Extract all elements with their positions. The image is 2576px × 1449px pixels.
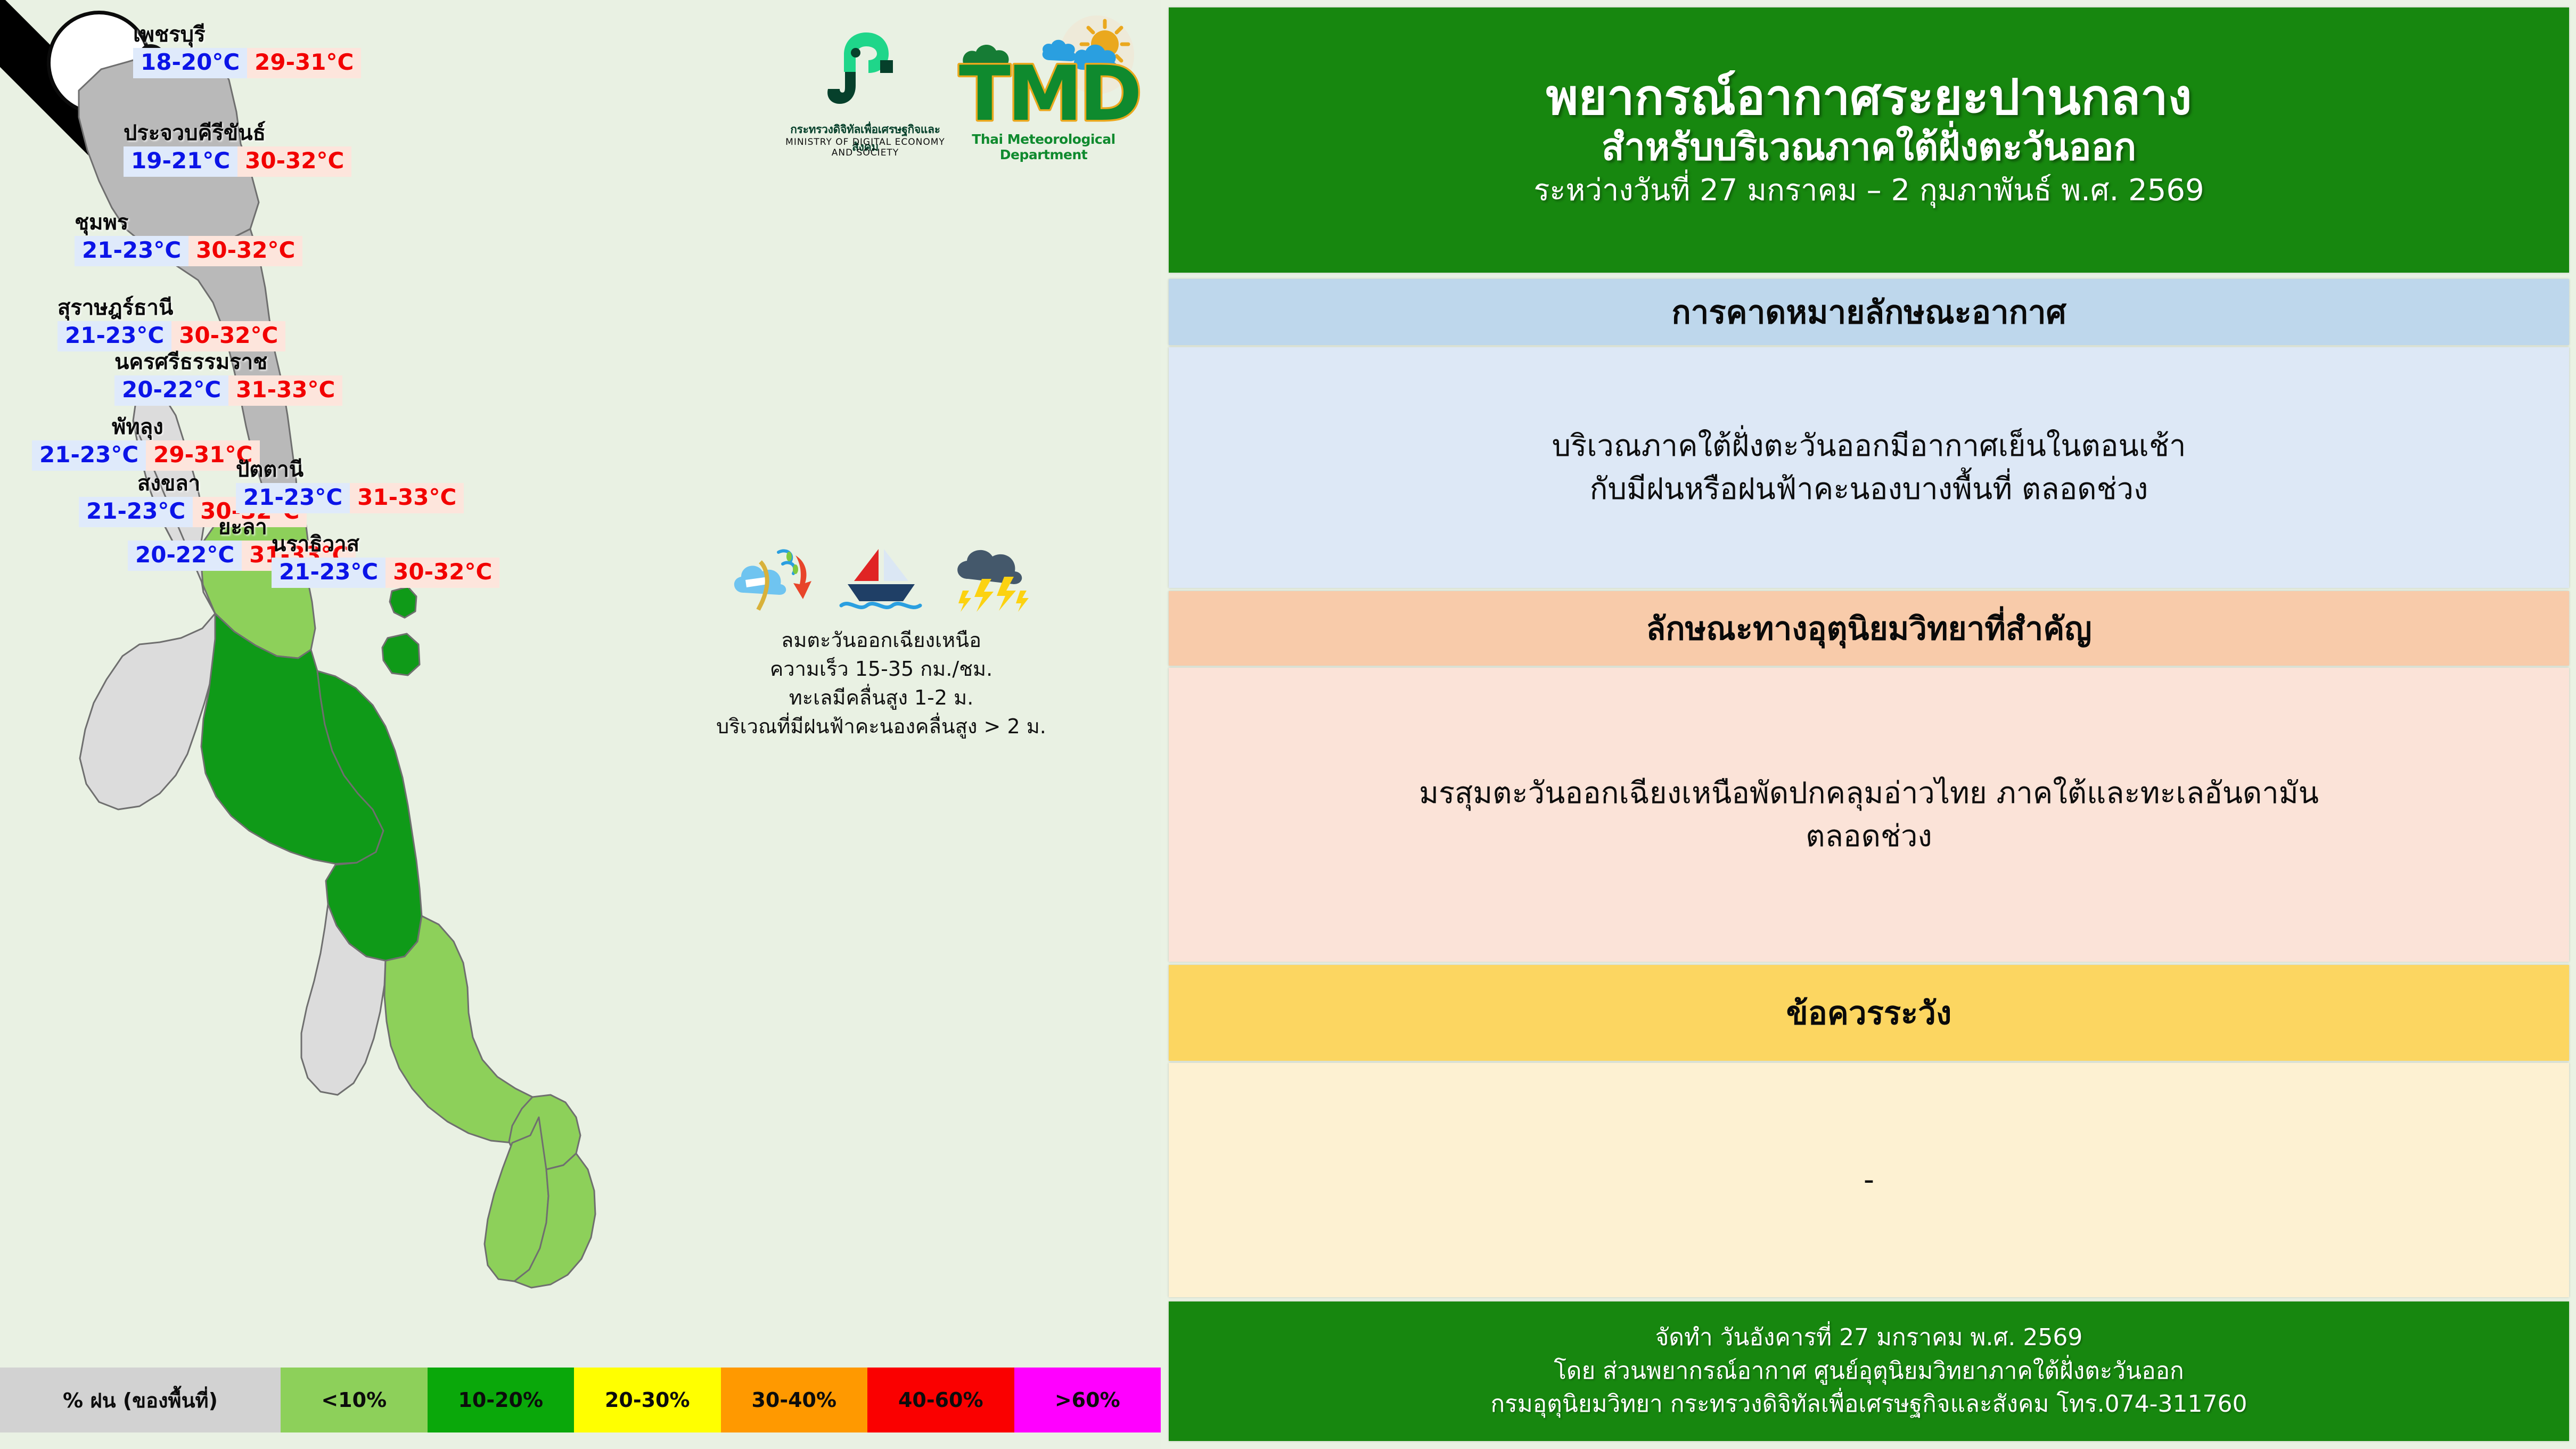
legend-cell-30-40: 30-40%	[721, 1368, 868, 1432]
temp-max: 31-33°C	[350, 483, 464, 513]
temp-max: 30-32°C	[171, 321, 285, 351]
map-pane: กระทรวงดิจิทัลเพื่อเศรษฐกิจและสังคม MINI…	[0, 0, 1161, 1449]
province-label: นครศรีธรรมราช 20-22°C 31-33°C	[114, 351, 342, 406]
footer-line-2: โดย ส่วนพยากรณ์อากาศ ศูนย์อุตุนิยมวิทยาภ…	[1554, 1355, 2184, 1388]
temp-min: 20-22°C	[114, 375, 228, 406]
wind-line-3: ทะเลมีคลื่นสูง 1-2 ม.	[612, 684, 1150, 713]
header-period: ระหว่างวันที่ 27 มกราคม – 2 กุมภาพันธ์ พ…	[1533, 171, 2204, 210]
wind-wave-block: ลมตะวันออกเฉียงเหนือ ความเร็ว 15-35 กม./…	[612, 543, 1150, 741]
legend-cell-lt10: <10%	[281, 1368, 428, 1432]
mdes-logo: กระทรวงดิจิทัลเพื่อเศรษฐกิจและสังคม MINI…	[785, 13, 945, 157]
temp-min: 19-21°C	[124, 146, 237, 177]
meteorology-body-line-2: ตลอดช่วง	[1419, 815, 2319, 858]
province-name: พัทลุง	[112, 416, 260, 438]
tmd-logo: TMD TMD Thai Meteorological Department	[945, 13, 1142, 162]
section-body-forecast: บริเวณภาคใต้ฝั่งตะวันออกมีอากาศเย็นในตอน…	[1169, 347, 2569, 588]
forecast-header: พยากรณ์อากาศระยะปานกลาง สำหรับบริเวณภาคใ…	[1169, 7, 2569, 273]
temp-max: 29-31°C	[247, 48, 361, 78]
legend-cell-10-20: 10-20%	[428, 1368, 575, 1432]
temp-max: 31-33°C	[228, 375, 342, 406]
mdes-english-label: MINISTRY OF DIGITAL ECONOMY AND SOCIETY	[785, 137, 945, 158]
footer-line-1: จัดทำ วันอังคารที่ 27 มกราคม พ.ศ. 2569	[1655, 1321, 2083, 1354]
legend-cell-20-30: 20-30%	[574, 1368, 721, 1432]
legend-cell-40-60: 40-60%	[867, 1368, 1014, 1432]
forecast-footer: จัดทำ วันอังคารที่ 27 มกราคม พ.ศ. 2569 โ…	[1169, 1301, 2569, 1441]
temp-max: 30-32°C	[385, 558, 499, 588]
svg-text:TMD: TMD	[959, 50, 1139, 136]
header-region: สำหรับบริเวณภาคใต้ฝั่งตะวันออก	[1602, 125, 2136, 169]
wind-line-2: ความเร็ว 15-35 กม./ชม.	[612, 655, 1150, 684]
province-label: เพชรบุรี 18-20°C 29-31°C	[133, 24, 361, 78]
province-label: ชุมพร 21-23°C 30-32°C	[75, 212, 302, 266]
weather-icon-row	[612, 543, 1150, 612]
temp-min: 21-23°C	[32, 440, 146, 471]
temp-min: 21-23°C	[272, 558, 385, 588]
mdes-logo-icon	[817, 21, 913, 116]
forecast-body-line-2: กับมีฝนหรือฝนฟ้าคะนองบางพื้นที่ ตลอดช่วง	[1552, 468, 2186, 511]
southern-thailand-map	[0, 11, 596, 1331]
legend-cell-gt60: >60%	[1014, 1368, 1161, 1432]
province-name: นครศรีธรรมราช	[114, 351, 342, 373]
thunderstorm-icon	[945, 546, 1035, 612]
section-body-caution: -	[1169, 1063, 2569, 1297]
section-heading-caution: ข้อควรระวัง	[1169, 965, 2569, 1061]
tmd-logo-icon: TMD TMD	[945, 13, 1142, 136]
wind-line-1: ลมตะวันออกเฉียงเหนือ	[612, 626, 1150, 655]
logo-row: กระทรวงดิจิทัลเพื่อเศรษฐกิจและสังคม MINI…	[785, 13, 1142, 162]
section-body-meteorology: มรสุมตะวันออกเฉียงเหนือพัดปกคลุมอ่าวไทย …	[1169, 668, 2569, 962]
temp-max: 30-32°C	[188, 236, 302, 266]
wind-wave-text: ลมตะวันออกเฉียงเหนือ ความเร็ว 15-35 กม./…	[612, 626, 1150, 741]
tmd-subtitle: Thai Meteorological Department	[945, 132, 1142, 162]
section-heading-forecast: การคาดหมายลักษณะอากาศ	[1169, 279, 2569, 345]
forecast-body-line-1: บริเวณภาคใต้ฝั่งตะวันออกมีอากาศเย็นในตอน…	[1552, 424, 2186, 468]
rain-percent-legend: % ฝน (ของพื้นที่) <10% 10-20% 20-30% 30-…	[0, 1368, 1161, 1432]
section-heading-meteorology: ลักษณะทางอุตุนิยมวิทยาที่สำคัญ	[1169, 591, 2569, 666]
province-name: เพชรบุรี	[133, 24, 361, 45]
temp-min: 20-22°C	[128, 541, 242, 571]
wind-rain-icon	[727, 546, 818, 612]
province-name: ประจวบคีรีขันธ์	[124, 122, 351, 144]
meteorology-body-line-1: มรสุมตะวันออกเฉียงเหนือพัดปกคลุมอ่าวไทย …	[1419, 772, 2319, 815]
info-pane: พยากรณ์อากาศระยะปานกลาง สำหรับบริเวณภาคใ…	[1169, 0, 2569, 1449]
province-label: ปัตตานี 21-23°C 31-33°C	[236, 459, 464, 513]
province-label: สุราษฎร์ธานี 21-23°C 30-32°C	[58, 297, 285, 351]
province-label: นราธิวาส 21-23°C 30-32°C	[272, 534, 499, 588]
province-label: ประจวบคีรีขันธ์ 19-21°C 30-32°C	[124, 122, 351, 177]
temp-min: 18-20°C	[133, 48, 247, 78]
temp-min: 21-23°C	[58, 321, 171, 351]
wind-line-4: บริเวณที่มีฝนฟ้าคะนองคลื่นสูง > 2 ม.	[612, 713, 1150, 741]
legend-title: % ฝน (ของพื้นที่)	[0, 1368, 281, 1432]
province-name: สุราษฎร์ธานี	[58, 297, 285, 318]
province-name: ปัตตานี	[236, 459, 464, 480]
province-name: นราธิวาส	[272, 534, 499, 555]
sailboat-wave-icon	[836, 546, 926, 612]
province-label: พัทลุง 21-23°C 29-31°C	[32, 416, 260, 471]
footer-line-3: กรมอุตุนิยมวิทยา กระทรวงดิจิทัลเพื่อเศรษ…	[1491, 1388, 2247, 1421]
temp-min: 21-23°C	[75, 236, 188, 266]
temp-max: 30-32°C	[237, 146, 351, 177]
header-title: พยากรณ์อากาศระยะปานกลาง	[1546, 70, 2192, 125]
province-name: ชุมพร	[75, 212, 302, 233]
temp-min: 21-23°C	[236, 483, 350, 513]
